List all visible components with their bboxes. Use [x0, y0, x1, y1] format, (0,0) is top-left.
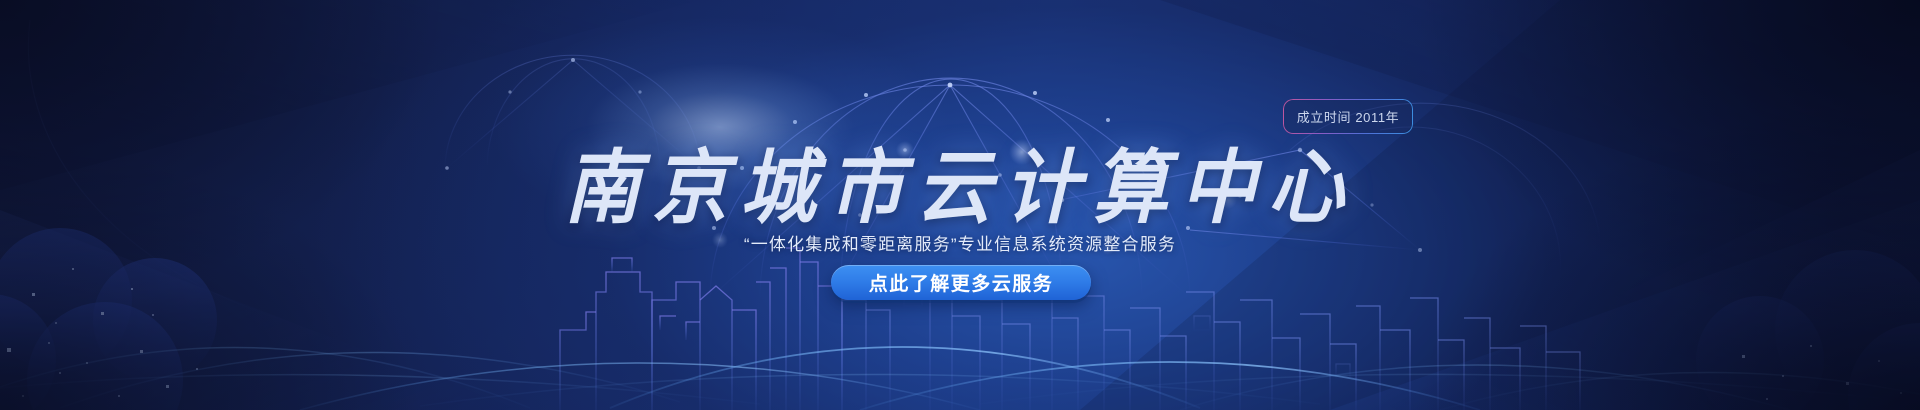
founded-year-badge: 成立时间 2011年	[1283, 99, 1413, 134]
founded-year-badge-label: 成立时间 2011年	[1297, 107, 1400, 126]
cloud-center-hero-banner: 南京城市云计算中心 “一体化集成和零距离服务”专业信息系统资源整合服务 点此了解…	[0, 0, 1920, 410]
banner-content: 南京城市云计算中心 “一体化集成和零距离服务”专业信息系统资源整合服务 点此了解…	[0, 0, 1920, 410]
page-title: 南京城市云计算中心	[0, 144, 1920, 233]
learn-more-cloud-services-button[interactable]: 点此了解更多云服务	[831, 265, 1091, 300]
banner-subtitle: “一体化集成和零距离服务”专业信息系统资源整合服务	[0, 233, 1920, 257]
